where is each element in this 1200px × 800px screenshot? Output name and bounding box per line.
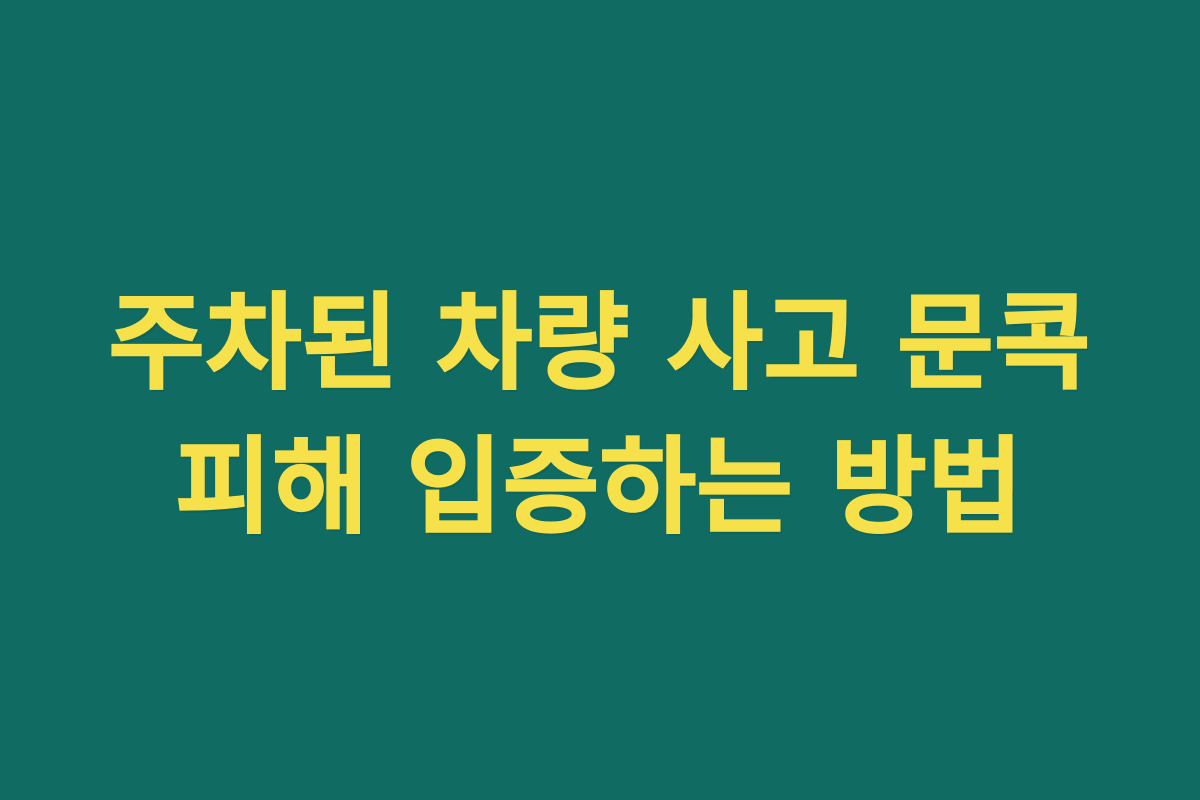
thumbnail-card: 주차된 차량 사고 문콕 피해 입증하는 방법 [0, 0, 1200, 800]
title-line-1: 주차된 차량 사고 문콕 [0, 271, 1200, 415]
title-line-2: 피해 입증하는 방법 [0, 415, 1200, 559]
title-block: 주차된 차량 사고 문콕 피해 입증하는 방법 [0, 271, 1200, 559]
